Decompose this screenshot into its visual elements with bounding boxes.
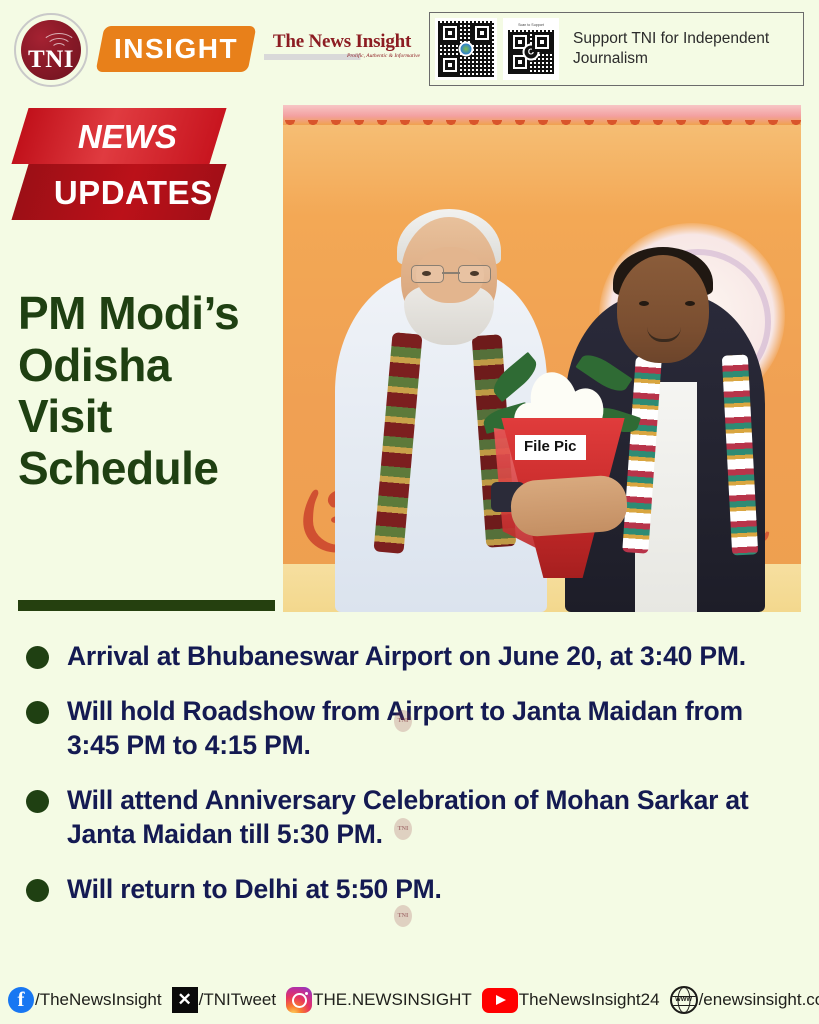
- social-link-youtube[interactable]: TheNewsInsight24: [482, 988, 670, 1013]
- qr-center-logo: O: [523, 43, 540, 60]
- list-item: Will return to Delhi at 5:50 PM.: [26, 873, 792, 906]
- tni-watermark: TNI: [394, 818, 412, 840]
- bouquet: [479, 336, 645, 586]
- banner-row-updates: UPDATES: [11, 164, 226, 220]
- photo-bunting-decor: [283, 105, 801, 125]
- masthead-rule: Prolific, Authentic & Informative: [264, 54, 420, 60]
- masthead: The News Insight Prolific, Authentic & I…: [264, 32, 420, 60]
- list-item-text: Will return to Delhi at 5:50 PM.: [67, 873, 442, 906]
- youtube-icon: [482, 988, 518, 1013]
- masthead-tagline: Prolific, Authentic & Informative: [347, 53, 420, 59]
- qr-center-logo: [459, 42, 474, 57]
- facebook-icon: f: [8, 987, 34, 1013]
- youtube-handle: TheNewsInsight24: [519, 990, 660, 1010]
- schedule-list: Arrival at Bhubaneswar Airport on June 2…: [26, 640, 792, 928]
- facebook-handle: /TheNewsInsight: [35, 990, 162, 1010]
- qr-pattern: O: [508, 30, 554, 74]
- list-item: Arrival at Bhubaneswar Airport on June 2…: [26, 640, 792, 673]
- list-item-text: Arrival at Bhubaneswar Airport on June 2…: [67, 640, 746, 673]
- support-banner[interactable]: Scan to Support O Support TNI for Indepe…: [429, 12, 804, 86]
- masthead-title: The News Insight: [264, 32, 420, 52]
- website-url: /enewsinsight.com: [699, 990, 819, 1010]
- x-handle: /TNITweet: [199, 990, 276, 1010]
- qr-code-secondary[interactable]: Scan to Support O: [503, 18, 559, 80]
- qr-caption: Scan to Support: [518, 24, 544, 28]
- person-modi-eye-right: [470, 271, 479, 276]
- support-text: Support TNI for Independent Journalism: [573, 29, 797, 69]
- tni-logo[interactable]: TNI: [14, 13, 88, 87]
- social-link-x[interactable]: ✕ /TNITweet: [172, 987, 286, 1013]
- social-link-website[interactable]: WWW /enewsinsight.com: [670, 986, 819, 1014]
- x-twitter-icon: ✕: [172, 987, 198, 1013]
- instagram-handle: THE.NEWSINSIGHT: [313, 990, 472, 1010]
- bullet-icon: [26, 879, 49, 902]
- qr-finder-bottom-left: [440, 55, 460, 75]
- person-majhi-eye-right: [685, 301, 695, 306]
- logo-text: TNI: [14, 47, 88, 72]
- list-item: Will attend Anniversary Celebration of M…: [26, 784, 792, 851]
- insight-brand-tag[interactable]: INSIGHT: [96, 26, 257, 72]
- page-title: PM Modi’s Odisha Visit Schedule: [18, 288, 276, 494]
- news-updates-banner: NEWS UPDATES: [20, 108, 218, 220]
- list-item-text: Will attend Anniversary Celebration of M…: [67, 784, 792, 851]
- news-photo: ଓ ଖ: [283, 105, 801, 612]
- globe-parallel: [671, 1005, 697, 1006]
- glasses-bridge: [442, 272, 460, 274]
- social-link-facebook[interactable]: f /TheNewsInsight: [8, 987, 172, 1013]
- globe-icon: WWW: [670, 986, 698, 1014]
- globe-www-label: WWW: [672, 997, 696, 1003]
- title-underline: [18, 600, 275, 611]
- banner-label-news: NEWS: [78, 120, 177, 153]
- qr-pattern: [438, 21, 494, 77]
- social-link-instagram[interactable]: THE.NEWSINSIGHT: [286, 987, 482, 1013]
- social-footer: f /TheNewsInsight ✕ /TNITweet THE.NEWSIN…: [0, 976, 819, 1024]
- list-item-text: Will hold Roadshow from Airport to Janta…: [67, 695, 792, 762]
- banner-label-updates: UPDATES: [54, 176, 213, 209]
- header-bar: TNI INSIGHT The News Insight Prolific, A…: [0, 0, 819, 96]
- instagram-icon: [286, 987, 312, 1013]
- tni-watermark: TNI: [394, 905, 412, 927]
- banner-row-news: NEWS: [11, 108, 226, 164]
- news-poster: TNI INSIGHT The News Insight Prolific, A…: [0, 0, 819, 1024]
- tni-watermark: TNI: [394, 710, 412, 732]
- bullet-icon: [26, 646, 49, 669]
- person-modi-eye-left: [422, 271, 431, 276]
- handshake: [509, 474, 629, 538]
- bullet-icon: [26, 790, 49, 813]
- insight-brand-label: INSIGHT: [114, 33, 238, 65]
- qr-code-primary[interactable]: [435, 18, 497, 80]
- bullet-icon: [26, 701, 49, 724]
- photo-caption-badge: File Pic: [515, 435, 586, 460]
- person-majhi-eye-left: [639, 301, 649, 306]
